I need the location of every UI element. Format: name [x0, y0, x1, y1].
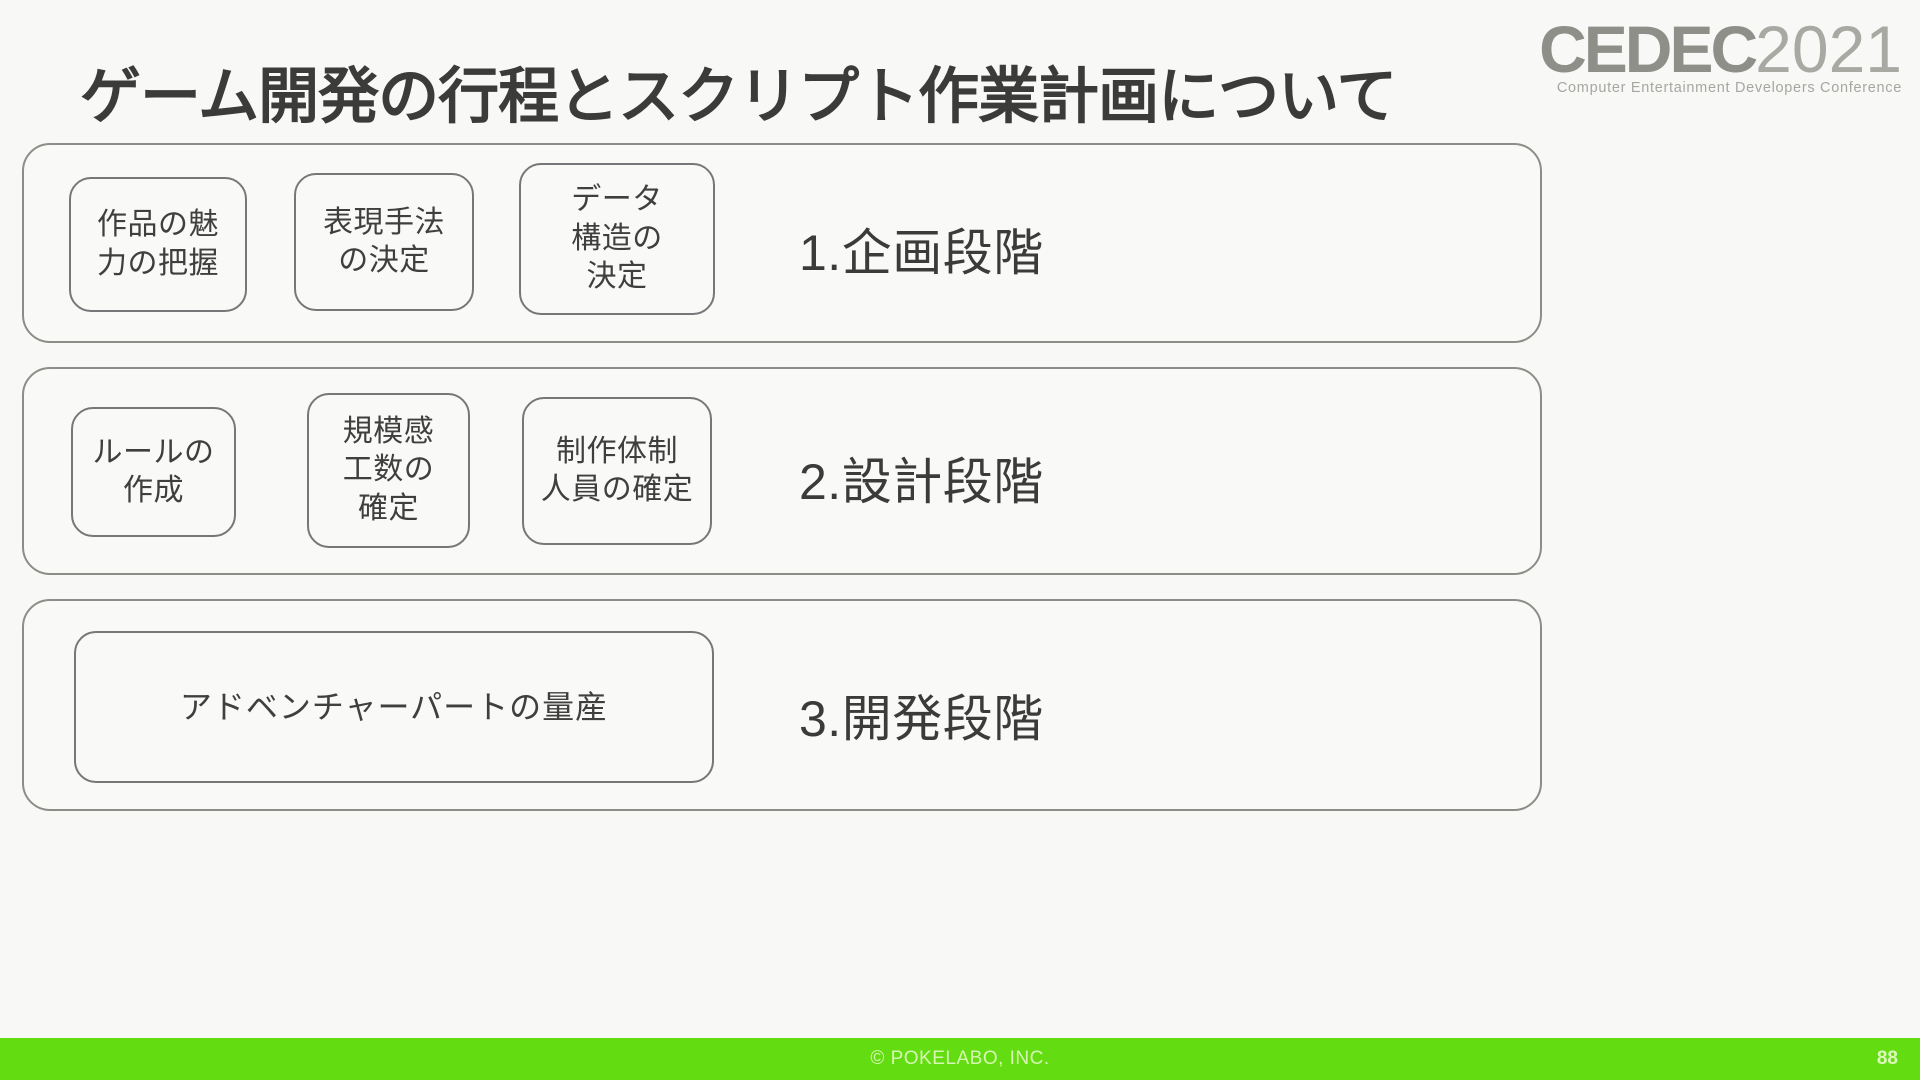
logo-wordmark: CEDEC2021 — [1482, 14, 1902, 84]
stage-2-task-group: ルールの作成 規模感工数の確定 制作体制人員の確定 — [24, 369, 754, 573]
logo-year-text: 2021 — [1755, 12, 1902, 86]
cedec-logo: CEDEC2021 Computer Entertainment Develop… — [1482, 14, 1902, 114]
logo-brand-text: CEDEC — [1539, 12, 1755, 86]
slide-header: ゲーム開発の行程とスクリプト作業計画について CEDEC2021 Compute… — [0, 0, 1920, 150]
page-title: ゲーム開発の行程とスクリプト作業計画について — [80, 46, 1396, 135]
task-box: ルールの作成 — [71, 407, 236, 537]
stage-label: 3.開発段階 — [799, 679, 1044, 751]
task-box: 制作体制人員の確定 — [522, 397, 712, 545]
stage-section-1: 作品の魅力の把握 表現手法の決定 データ構造の決定 1.企画段階 — [22, 143, 1542, 343]
stage-section-3: アドベンチャーパートの量産 3.開発段階 — [22, 599, 1542, 811]
page-number: 88 — [1877, 1038, 1898, 1080]
stage-label: 1.企画段階 — [799, 213, 1044, 285]
slide-footer: © POKELABO, INC. 88 — [0, 1038, 1920, 1080]
stage-3-task-group: アドベンチャーパートの量産 — [24, 601, 754, 809]
task-box: 表現手法の決定 — [294, 173, 474, 311]
copyright-text: © POKELABO, INC. — [0, 1038, 1920, 1080]
task-box: データ構造の決定 — [519, 163, 715, 315]
task-box: 作品の魅力の把握 — [69, 177, 247, 312]
stage-1-task-group: 作品の魅力の把握 表現手法の決定 データ構造の決定 — [24, 145, 754, 341]
stage-list: 作品の魅力の把握 表現手法の決定 データ構造の決定 1.企画段階 ルールの作成 … — [22, 143, 1542, 835]
task-box: アドベンチャーパートの量産 — [74, 631, 714, 783]
task-box: 規模感工数の確定 — [307, 393, 470, 548]
stage-section-2: ルールの作成 規模感工数の確定 制作体制人員の確定 2.設計段階 — [22, 367, 1542, 575]
stage-label: 2.設計段階 — [799, 442, 1044, 514]
